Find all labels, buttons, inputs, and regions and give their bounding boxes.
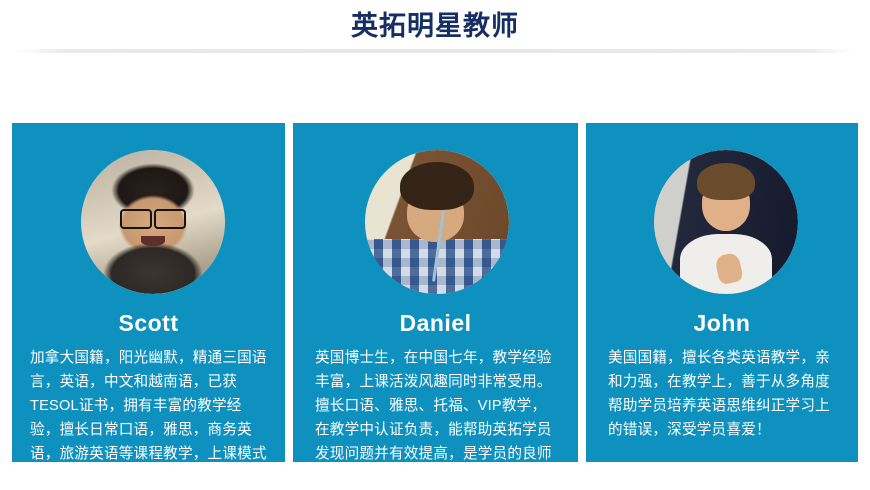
teacher-name-john: John	[586, 309, 858, 337]
teacher-name-scott: Scott	[12, 309, 285, 337]
portrait-image-daniel	[365, 150, 509, 294]
avatar-john	[649, 145, 803, 299]
avatar-daniel	[360, 145, 514, 299]
avatar-scott	[76, 145, 230, 299]
teacher-card-john[interactable]: John 美国国籍，擅长各类英语教学，亲和力强，在教学上，善于从多角度帮助学员培…	[586, 123, 858, 462]
teacher-card-daniel[interactable]: Daniel 英国博士生，在中国七年，教学经验丰富，上课活泼风趣同时非常受用。擅…	[293, 123, 578, 462]
teacher-card-scott[interactable]: Scott 加拿大国籍，阳光幽默，精通三国语言，英语，中文和越南语，已获TESO…	[12, 123, 285, 462]
teacher-card-list: Scott 加拿大国籍，阳光幽默，精通三国语言，英语，中文和越南语，已获TESO…	[0, 60, 870, 472]
hair-shape	[697, 163, 755, 200]
title-divider	[15, 49, 855, 53]
mouth-shape	[141, 236, 164, 246]
hair-shape	[400, 162, 475, 211]
glasses-icon	[120, 209, 186, 225]
page-title: 英拓明星教师	[0, 9, 870, 43]
teacher-bio-daniel: 英国博士生，在中国七年，教学经验丰富，上课活泼风趣同时非常受用。擅长口语、雅思、…	[315, 346, 560, 490]
portrait-image-scott	[81, 150, 225, 294]
teacher-name-daniel: Daniel	[293, 309, 578, 337]
page-header: 英拓明星教师	[0, 0, 870, 52]
teacher-bio-scott: 加拿大国籍，阳光幽默，精通三国语言，英语，中文和越南语，已获TESOL证书，拥有…	[30, 346, 269, 490]
portrait-image-john	[654, 150, 798, 294]
teacher-bio-john: 美国国籍，擅长各类英语教学，亲和力强，在教学上，善于从多角度帮助学员培养英语思维…	[608, 346, 844, 442]
